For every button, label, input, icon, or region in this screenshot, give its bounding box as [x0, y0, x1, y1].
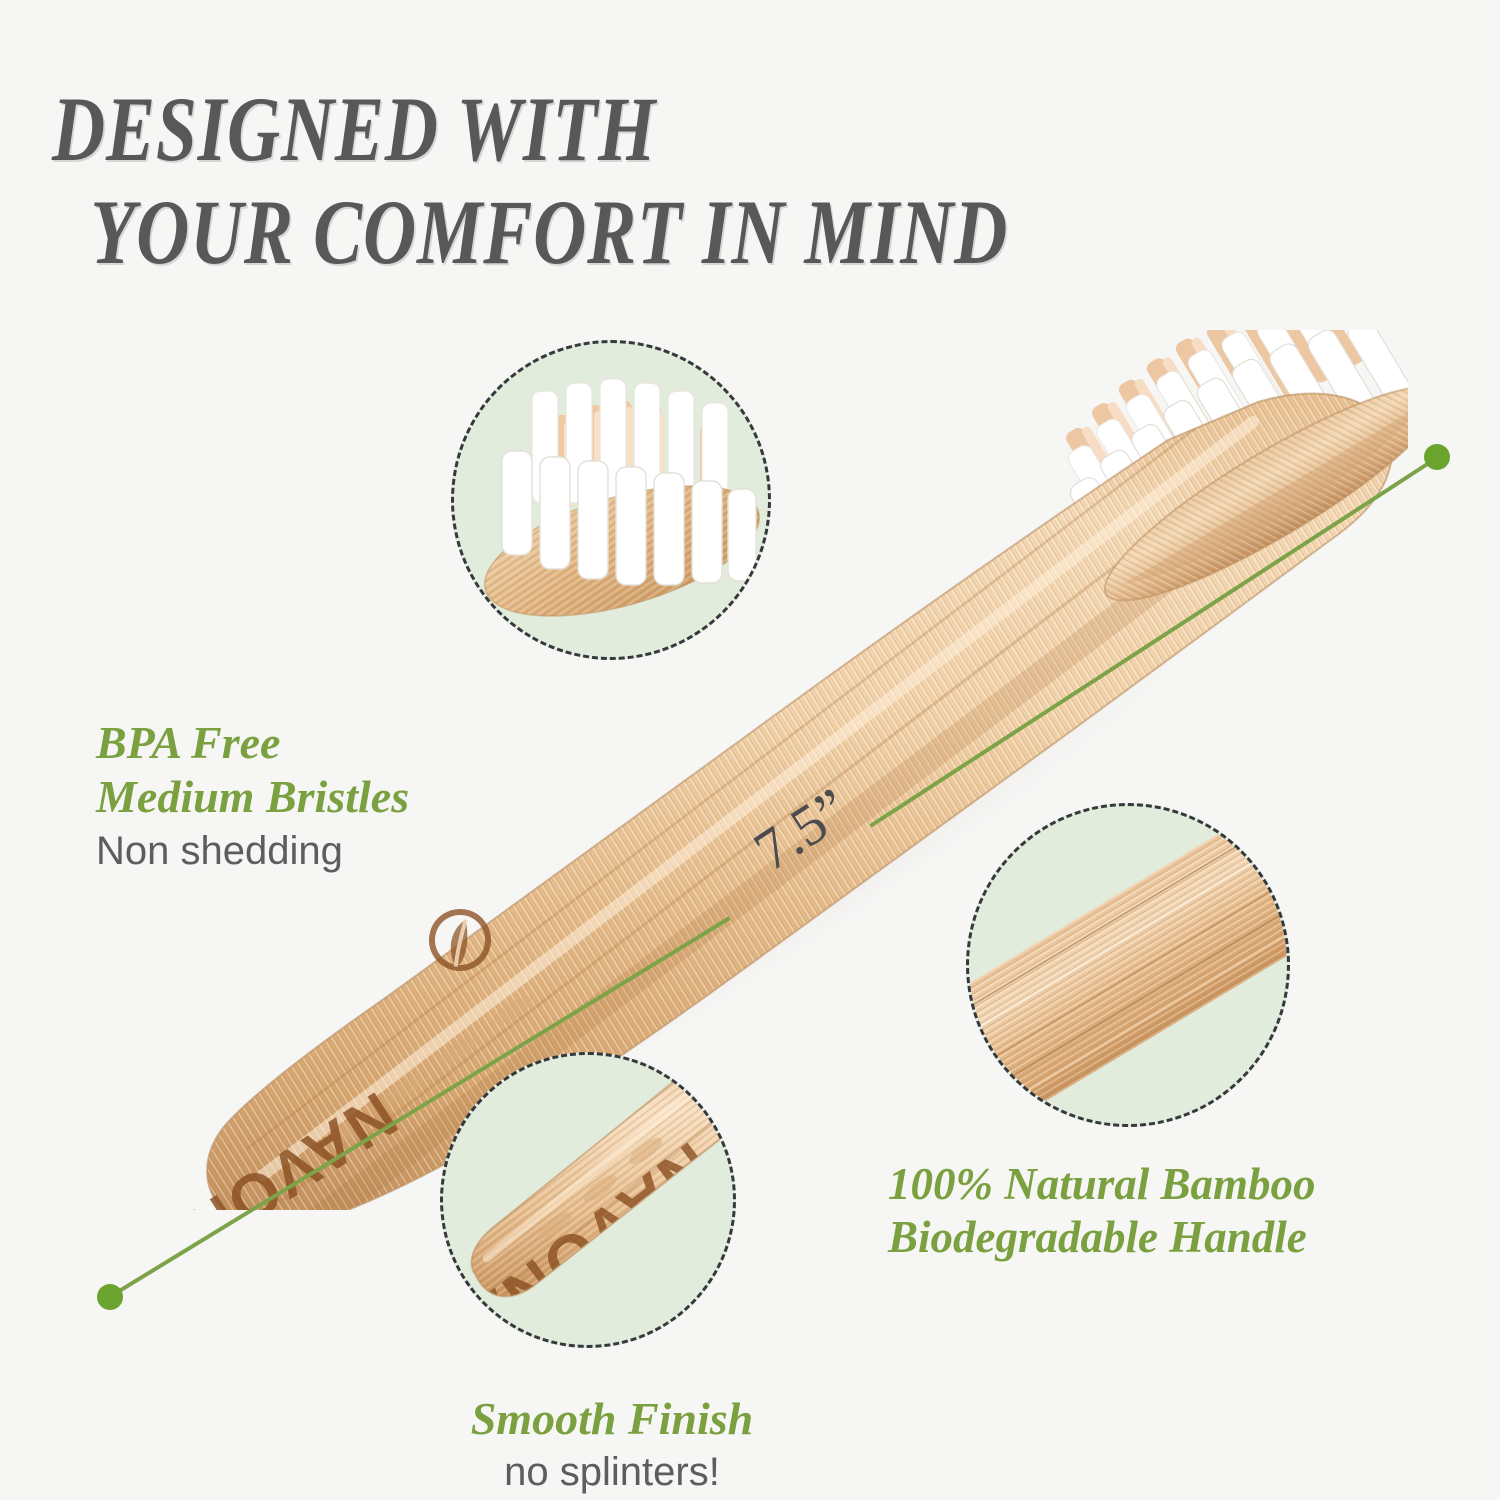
- bamboo-grain-art: [969, 806, 1287, 1124]
- feature-bristles-title-2: Medium Bristles: [96, 770, 409, 824]
- page-title: DESIGNED WITH YOUR COMFORT IN MIND: [52, 78, 1108, 284]
- inset-tip-clip: NAVONA: [443, 1055, 733, 1345]
- feature-bamboo-title-1: 100% Natural Bamboo: [888, 1158, 1316, 1211]
- measure-segment-upper: [872, 461, 1432, 825]
- handle-tip-art: NAVONA: [443, 1055, 733, 1345]
- feature-bristles: BPA Free Medium Bristles Non shedding: [96, 716, 409, 877]
- brush-head: [1085, 357, 1408, 630]
- headline-line-1: DESIGNED WITH: [52, 78, 656, 180]
- feature-bristles-subtitle: Non shedding: [96, 825, 409, 877]
- feature-bamboo: 100% Natural Bamboo Biodegradable Handle: [888, 1158, 1316, 1264]
- brand-engraving-text: NAVONA: [132, 1078, 410, 1210]
- feature-smooth: Smooth Finish no splinters!: [447, 1392, 777, 1498]
- leaf-circle-logo: [421, 901, 498, 978]
- feature-bamboo-title-2: Biodegradable Handle: [888, 1211, 1316, 1264]
- bamboo-grain-band: [969, 806, 1287, 1124]
- handle-tip-shape: NAVONA: [443, 1055, 733, 1345]
- bristle-macro-art: [454, 343, 768, 657]
- infographic-canvas: DESIGNED WITH YOUR COMFORT IN MIND: [0, 0, 1500, 1500]
- feature-smooth-subtitle: no splinters!: [447, 1446, 777, 1498]
- feature-bristles-title-1: BPA Free: [96, 716, 409, 770]
- feature-smooth-title-1: Smooth Finish: [447, 1392, 777, 1446]
- measurement-label: 7.5”: [742, 774, 861, 884]
- bristle-field: [1032, 330, 1408, 586]
- brand-engraving: NAVONA: [132, 1078, 410, 1210]
- measure-endpoint-top: [1424, 444, 1450, 470]
- inset-grain-clip: [969, 806, 1287, 1124]
- inset-bristle-clip: [454, 343, 768, 657]
- inset-bristle-macro: [451, 340, 771, 660]
- inset-handle-tip-macro: NAVONA: [440, 1052, 736, 1348]
- headline-line-2: YOUR COMFORT IN MIND: [52, 181, 1108, 284]
- measure-endpoint-bottom: [97, 1284, 123, 1310]
- inset-bamboo-grain-macro: [966, 803, 1290, 1127]
